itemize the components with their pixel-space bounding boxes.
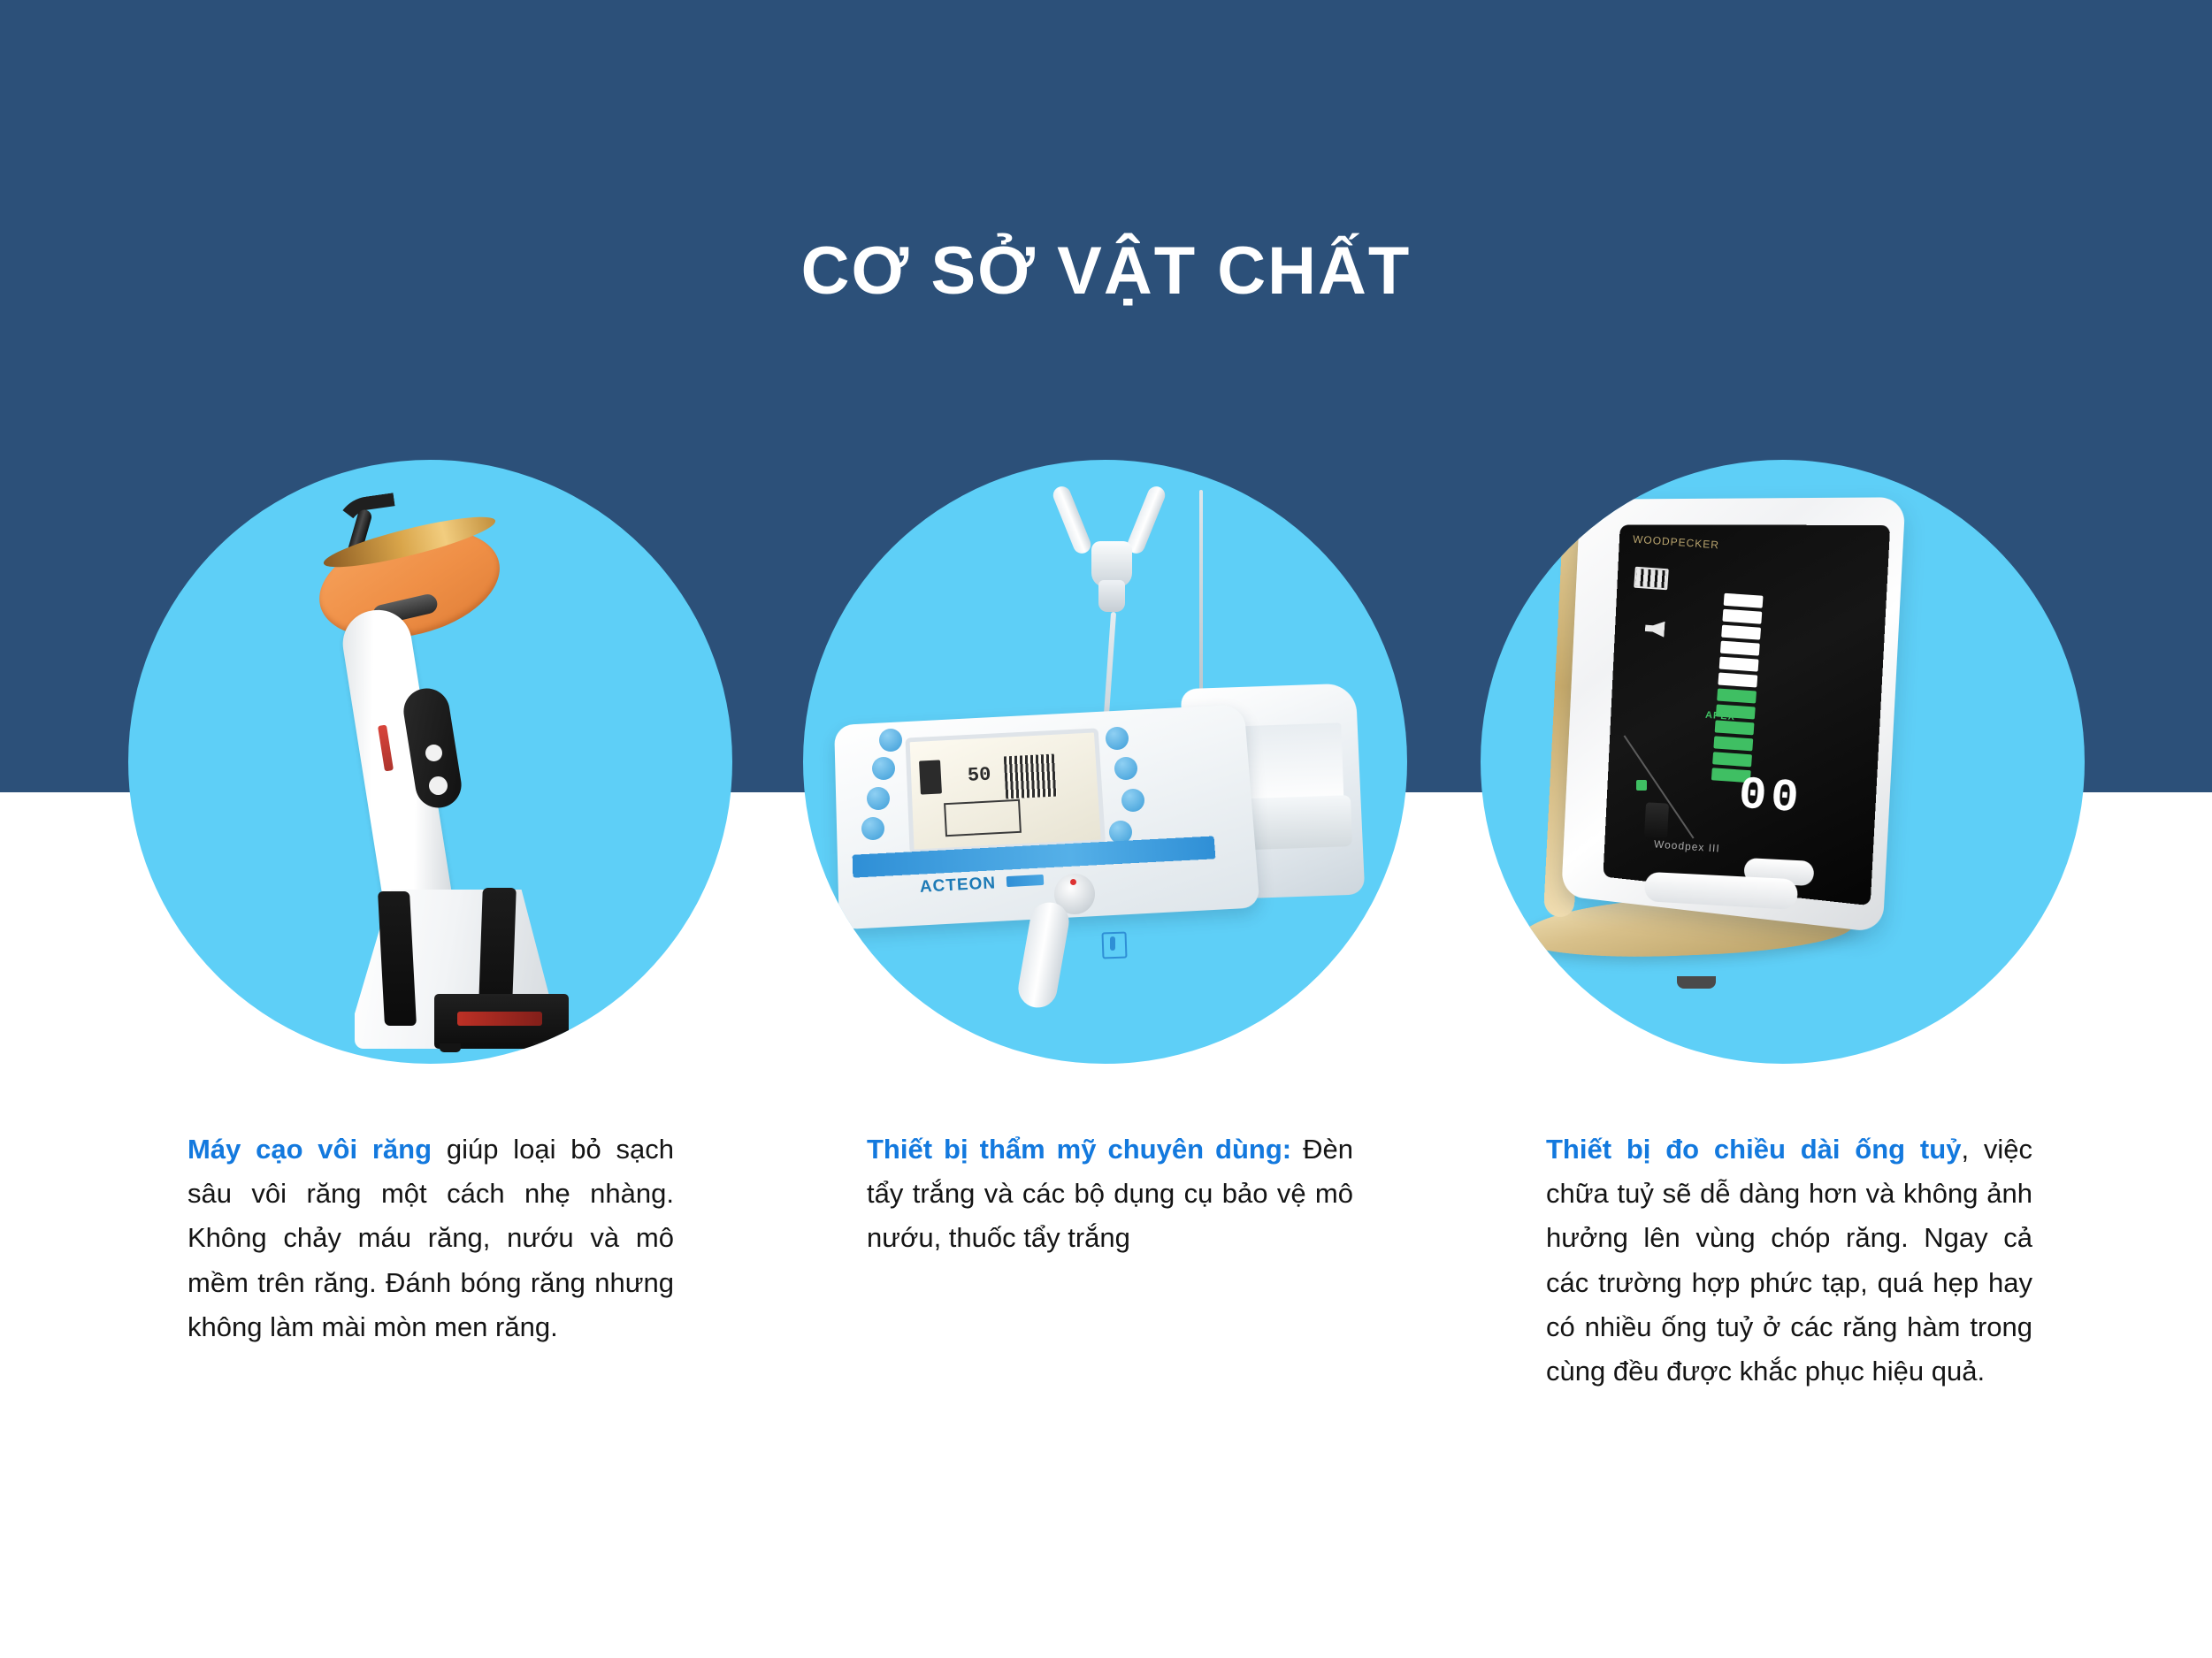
scaler-button-2[interactable]: [872, 757, 895, 780]
apex-bar-segment: [1724, 593, 1764, 608]
apex-locator-digit-readout: 00: [1737, 769, 1804, 826]
charging-base-logo-icon: [457, 1012, 542, 1026]
scaler-hook-cap-icon: [1098, 580, 1125, 612]
device-illustration-ultrasonic-scaler: 50 ACTEON: [803, 460, 1407, 1064]
scaler-button-4[interactable]: [861, 817, 884, 840]
apex-bar-segment: [1721, 625, 1761, 640]
slide-root: CƠ SỞ VẬT CHẤT: [0, 0, 2212, 1658]
caption-1-lead: Máy cạo vôi răng: [188, 1134, 432, 1165]
photo-circle-3: WOODPECKER APEX 00 Woodpex III: [1481, 460, 2085, 1064]
apex-bar-segment: [1722, 609, 1762, 624]
scaler-button-7[interactable]: [1121, 789, 1144, 812]
apex-bar-segment: [1718, 673, 1757, 688]
battery-icon: [1634, 567, 1669, 591]
scaler-drip-tube-icon: [1104, 612, 1116, 716]
scaler-patient-figure-icon: [1110, 936, 1115, 951]
charging-base-foot-right-icon: [533, 1042, 555, 1051]
page-title: CƠ SỞ VẬT CHẤT: [0, 234, 2212, 309]
apex-locator-stand-foot-icon: [1677, 976, 1716, 989]
scaler-port-indicator-icon: [1070, 879, 1076, 885]
caption-3: Thiết bị đo chiều dài ống tuỷ, việc chữa…: [1546, 1127, 2032, 1394]
scaler-handpiece-arrow-icon: [1006, 875, 1045, 887]
scaler-support-rod-icon: [1199, 490, 1203, 716]
device-illustration-apex-locator: WOODPECKER APEX 00 Woodpex III: [1481, 460, 2085, 1064]
scaler-display-bar-left-icon: [919, 760, 942, 794]
apex-bar-segment: [1717, 688, 1757, 703]
scaler-plus-button[interactable]: [1106, 727, 1129, 750]
scaler-button-3[interactable]: [867, 787, 890, 810]
scaler-bottle-holder-left-icon: [1051, 484, 1094, 556]
scaler-display-value: 50: [967, 763, 998, 788]
device-illustration-curing-light: [128, 460, 732, 1064]
caption-1-rest: giúp loại bỏ sạch sâu vôi răng một cách …: [188, 1134, 674, 1342]
apex-bar-segment: [1719, 657, 1759, 672]
apex-bar-segment: [1720, 641, 1760, 656]
apex-locator-status-led-icon: [1636, 780, 1647, 791]
photo-circle-2: 50 ACTEON: [803, 460, 1407, 1064]
caption-2-lead: Thiết bị thẩm mỹ chuyên dùng:: [867, 1134, 1291, 1165]
caption-2: Thiết bị thẩm mỹ chuyên dùng: Đèn tẩy tr…: [867, 1127, 1353, 1261]
caption-1: Máy cạo vôi răng giúp loại bỏ sạch sâu v…: [188, 1127, 674, 1349]
curing-light-button-upper-icon: [425, 745, 442, 761]
scaler-display-icon-row: [944, 799, 1022, 837]
caption-3-rest: , việc chữa tuỷ sẽ dễ dàng hơn và không …: [1546, 1134, 2032, 1387]
photo-circle-1: [128, 460, 732, 1064]
scaler-button-1[interactable]: [879, 729, 902, 752]
apex-label: APEX: [1705, 710, 1736, 722]
scaler-bottle-holder-right-icon: [1125, 484, 1168, 556]
apex-bar-segment: [1712, 752, 1752, 767]
scaler-minus-button[interactable]: [1114, 757, 1137, 780]
curing-light-button-lower-icon: [429, 776, 448, 795]
apex-locator-port-icon: [1644, 802, 1669, 838]
caption-3-lead: Thiết bị đo chiều dài ống tuỷ: [1546, 1134, 1961, 1165]
apex-bar-segment: [1713, 736, 1753, 751]
scaler-display-bar-right-icon: [1004, 754, 1057, 799]
charging-base-foot-left-icon: [440, 1043, 461, 1052]
